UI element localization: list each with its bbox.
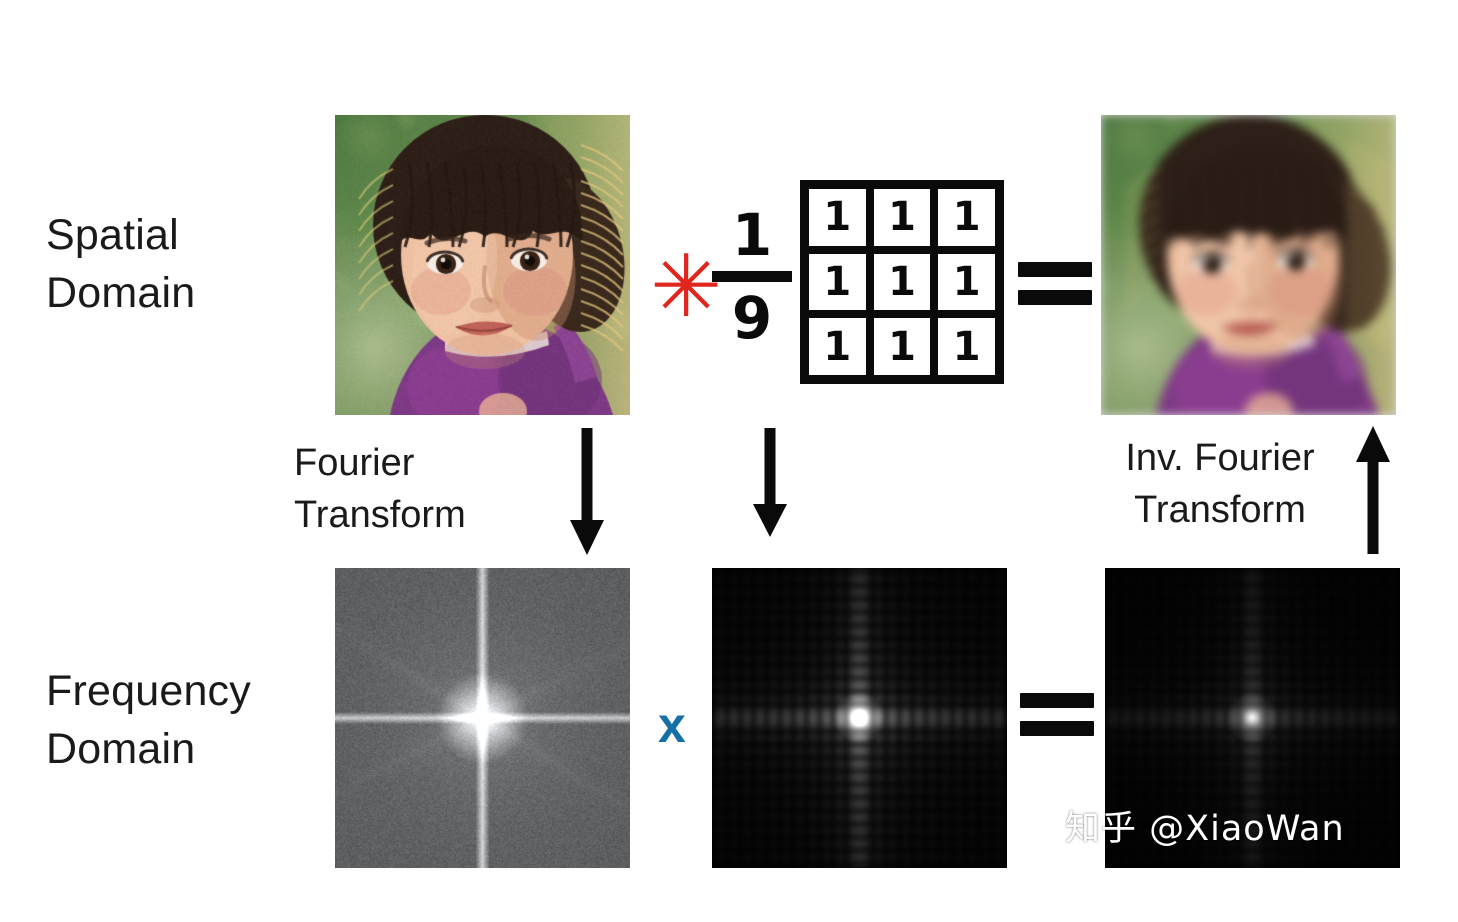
- inverse-transform-label: Inv. Fourier Transform: [1092, 432, 1348, 536]
- kernel-cell-2-1: 1: [874, 318, 931, 375]
- equals-operator-top: [1018, 262, 1092, 305]
- kernel-spectrum-panel: [712, 568, 1007, 868]
- result-image-panel: [1101, 115, 1396, 415]
- row-label-spatial-domain: Spatial Domain: [46, 206, 195, 322]
- kernel-cell-2-0: 1: [809, 318, 866, 375]
- fraction-denominator: 9: [712, 289, 792, 347]
- multiply-operator-icon: x: [658, 700, 686, 750]
- blur-kernel-matrix: 1 1 1 1 1 1 1 1 1: [800, 180, 1004, 384]
- source-image: [335, 115, 630, 415]
- row-label-frequency-domain: Frequency Domain: [46, 662, 251, 778]
- result-spectrum-panel: 知乎 @XiaoWan: [1105, 568, 1400, 868]
- source-image-panel: [335, 115, 630, 415]
- equals-operator-bottom: [1020, 693, 1094, 736]
- fraction-numerator: 1: [712, 206, 792, 264]
- inverse-transform-arrow-up-icon: [1353, 426, 1393, 554]
- result-image: [1101, 115, 1396, 415]
- kernel-spectrum-image: [712, 568, 1007, 868]
- fraction-bar: [712, 271, 792, 282]
- source-spectrum-panel: [335, 568, 630, 868]
- kernel-cell-2-2: 1: [938, 318, 995, 375]
- kernel-cell-0-2: 1: [938, 189, 995, 246]
- kernel-transform-arrow-down-icon: [750, 428, 790, 538]
- forward-transform-arrow-down-icon: [567, 428, 607, 556]
- kernel-cell-0-0: 1: [809, 189, 866, 246]
- source-spectrum-image: [335, 568, 630, 868]
- forward-transform-label: Fourier Transform: [294, 437, 466, 541]
- watermark-label: 知乎 @XiaoWan: [1065, 800, 1345, 851]
- kernel-scale-fraction: 1 9: [712, 206, 792, 347]
- kernel-cell-1-0: 1: [809, 254, 866, 311]
- figure-canvas: Spatial Domain Frequency Domain ✳ 1 9 1 …: [0, 0, 1458, 922]
- kernel-cell-0-1: 1: [874, 189, 931, 246]
- kernel-cell-1-1: 1: [874, 254, 931, 311]
- kernel-cell-1-2: 1: [938, 254, 995, 311]
